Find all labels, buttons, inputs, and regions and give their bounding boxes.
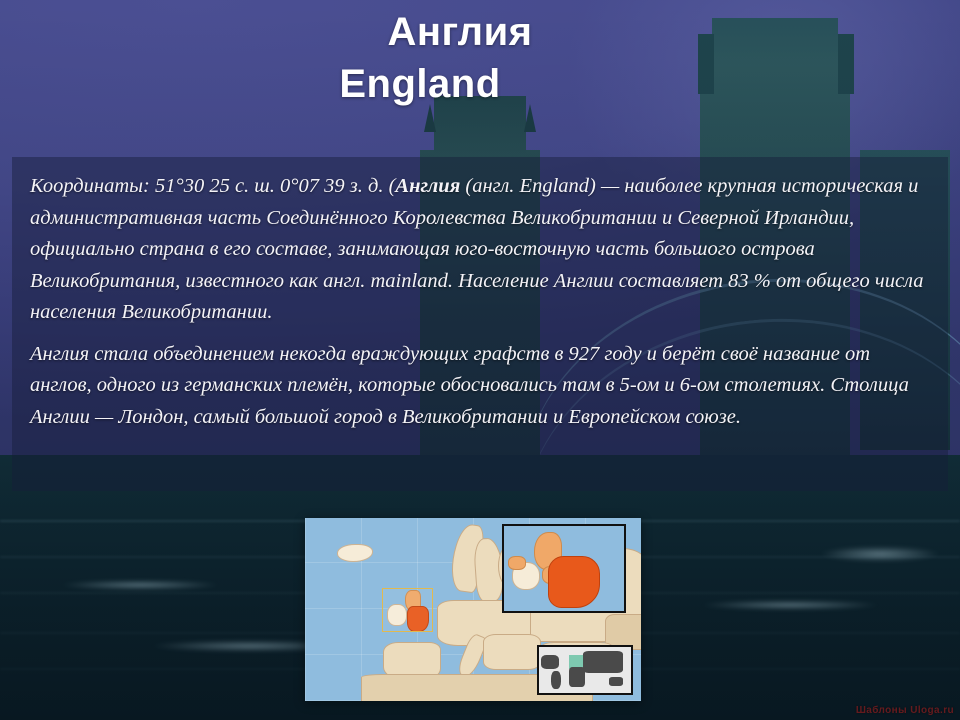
description-panel: Координаты: 51°30 25 с. ш. 0°07 39 з. д.… (12, 157, 948, 491)
country-name-bold: Англия (395, 175, 460, 197)
paragraph-one-rest: (англ. England) — наиболее крупная истор… (30, 175, 923, 323)
paragraph-two: Англия стала объединением некогда вражду… (30, 339, 930, 434)
slide-title-english: England (0, 58, 960, 110)
locator-land-asia (583, 651, 623, 673)
watermark: Шаблоны Uloga.ru (856, 705, 954, 716)
locator-land-australia (609, 677, 623, 686)
europe-map-image (305, 518, 641, 701)
map-land-balkans (483, 634, 541, 670)
slide-canvas: Англия England Координаты: 51°30 25 с. ш… (0, 0, 960, 720)
slide-title-russian: Англия (0, 6, 960, 58)
map-locator-world (537, 645, 633, 695)
paragraph-one: Координаты: 51°30 25 с. ш. 0°07 39 з. д.… (30, 171, 930, 329)
map-inset-british-isles (502, 524, 626, 613)
slide-title: Англия England (0, 6, 960, 110)
locator-land-south-america (551, 671, 561, 689)
locator-land-north-america (541, 655, 559, 669)
map-selection-box (382, 588, 433, 632)
inset-highlight-england (548, 556, 600, 608)
inset-land-northern-ireland (508, 556, 526, 570)
coordinates-text: Координаты: 51°30 25 с. ш. 0°07 39 з. д.… (30, 175, 395, 197)
